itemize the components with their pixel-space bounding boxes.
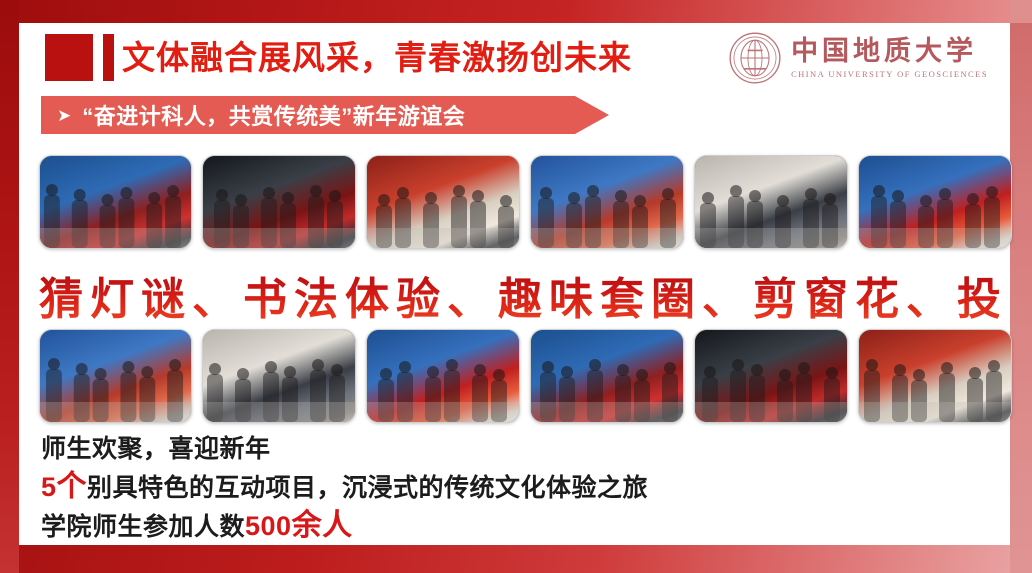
photo-image xyxy=(367,330,519,422)
attendance-number: 500 xyxy=(245,511,292,541)
photo-image xyxy=(367,156,519,248)
activity-photo xyxy=(530,155,684,249)
university-name-cn: 中国地质大学 xyxy=(791,38,988,65)
project-count-unit: 个 xyxy=(57,470,88,503)
photo-subject-shapes xyxy=(367,330,519,422)
activity-photos-row-2 xyxy=(39,329,1012,423)
photo-image xyxy=(531,156,683,248)
photo-subject-shapes xyxy=(40,330,191,422)
activity-photos-row-1 xyxy=(39,155,1012,249)
slide-frame-top xyxy=(0,0,1032,23)
photo-subject-shapes xyxy=(859,330,1011,422)
photo-subject-shapes xyxy=(531,156,683,248)
activity-photo xyxy=(366,155,520,249)
activity-photo xyxy=(202,155,356,249)
photo-image xyxy=(203,330,355,422)
photo-image xyxy=(40,156,191,248)
activity-photo xyxy=(858,329,1012,423)
university-seal-icon xyxy=(728,31,782,85)
activity-photo xyxy=(39,329,192,423)
attendance-label: 学院师生参加人数 xyxy=(41,513,245,541)
presentation-slide: 文体融合展风采，青春激扬创未来 中国地质大学 CHINA UNIVERSITY … xyxy=(0,0,1032,573)
photo-image xyxy=(859,156,1011,248)
summary-line-1: 师生欢聚，喜迎新年 xyxy=(41,431,981,468)
attendance-suffix: 余人 xyxy=(292,509,353,542)
summary-line-2-rest: 别具特色的互动项目，沉浸式的传统文化体验之旅 xyxy=(87,474,648,502)
summary-line-2: 5个别具特色的互动项目，沉浸式的传统文化体验之旅 xyxy=(41,468,981,507)
activity-photo xyxy=(530,329,684,423)
slide-frame-corner xyxy=(1010,0,1032,23)
photo-subject-shapes xyxy=(203,156,355,248)
activity-photo xyxy=(39,155,192,249)
university-name-en: CHINA UNIVERSITY OF GEOSCIENCES xyxy=(791,70,988,79)
activity-photo xyxy=(366,329,520,423)
photo-image xyxy=(695,156,847,248)
activity-photo xyxy=(202,329,356,423)
photo-subject-shapes xyxy=(531,330,683,422)
title-accent-block xyxy=(45,34,93,81)
photo-subject-shapes xyxy=(695,156,847,248)
photo-image xyxy=(203,156,355,248)
photo-image xyxy=(40,330,191,422)
activities-headline: 猜灯谜、书法体验、趣味套圈、剪窗花、投壶等 xyxy=(39,263,999,327)
slide-frame-bottom xyxy=(0,545,1032,573)
photo-subject-shapes xyxy=(203,330,355,422)
photo-subject-shapes xyxy=(40,156,191,248)
activity-photo xyxy=(858,155,1012,249)
university-logo-text: 中国地质大学 CHINA UNIVERSITY OF GEOSCIENCES xyxy=(791,38,988,79)
subtitle-banner: ➤ “奋进计科人，共赏传统美”新年游谊会 xyxy=(41,96,609,134)
summary-text-block: 师生欢聚，喜迎新年 5个别具特色的互动项目，沉浸式的传统文化体验之旅 学院师生参… xyxy=(41,431,981,546)
photo-subject-shapes xyxy=(859,156,1011,248)
slide-content-area: 文体融合展风采，青春激扬创未来 中国地质大学 CHINA UNIVERSITY … xyxy=(19,23,1010,545)
subtitle-banner-label: “奋进计科人，共赏传统美”新年游谊会 xyxy=(82,99,465,131)
activity-photo xyxy=(694,329,848,423)
photo-subject-shapes xyxy=(695,330,847,422)
activity-photo xyxy=(694,155,848,249)
project-count-number: 5 xyxy=(41,472,57,502)
slide-header: 文体融合展风采，青春激扬创未来 中国地质大学 CHINA UNIVERSITY … xyxy=(19,23,1010,93)
page-title: 文体融合展风采，青春激扬创未来 xyxy=(122,34,632,81)
photo-image xyxy=(695,330,847,422)
summary-line-3: 学院师生参加人数500余人 xyxy=(41,507,981,546)
photo-subject-shapes xyxy=(367,156,519,248)
photo-image xyxy=(531,330,683,422)
title-accent-bar xyxy=(103,34,114,81)
university-logo: 中国地质大学 CHINA UNIVERSITY OF GEOSCIENCES xyxy=(728,31,988,85)
slide-frame-left xyxy=(0,0,19,573)
triangle-right-icon: ➤ xyxy=(57,107,71,124)
photo-image xyxy=(859,330,1011,422)
